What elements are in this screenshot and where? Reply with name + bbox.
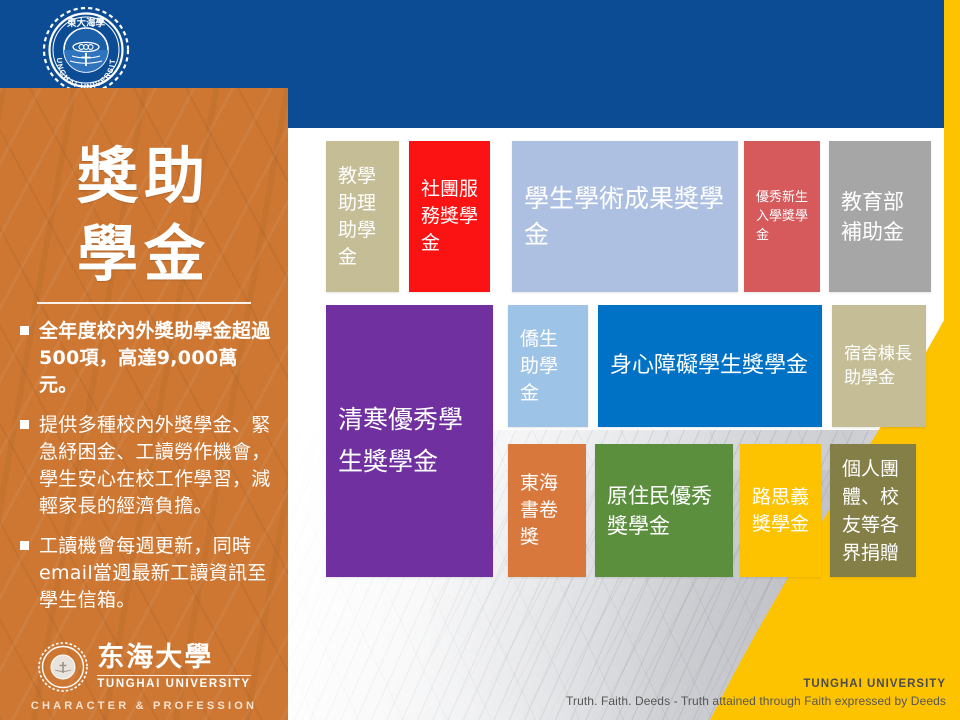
panel-brand-footer: 东海大學 TUNGHAI UNIVERSITY CHARACTER & PROF… [0,641,288,712]
svg-text:東大海學: 東大海學 [66,17,106,29]
scholarship-box-student-academic-achievement-scholarship[interactable]: 學生學術成果獎學金 [512,141,738,292]
list-item-label: 工讀機會每週更新，同時email當週最新工讀資訊至學生信箱。 [39,533,276,614]
scholarship-box-label: 優秀新生入學獎學金 [744,188,820,245]
scholarship-box-outstanding-freshman-admission-scholarship[interactable]: 優秀新生入學獎學金 [744,141,820,292]
brand-name-en: TUNGHAI UNIVERSITY [97,675,250,690]
bullet-square-icon [20,541,29,550]
list-item: 工讀機會每週更新，同時email當週最新工讀資訊至學生信箱。 [16,533,276,614]
list-item-label: 全年度校內外獎助學金超過500項，高達9,000萬元。 [39,318,276,399]
title-divider [37,302,251,304]
scholarship-box-club-service-scholarship[interactable]: 社團服務獎學金 [409,141,490,292]
bullet-list: 全年度校內外獎助學金超過500項，高達9,000萬元。 提供多種校內外獎學金、緊… [16,318,276,614]
scholarship-box-label: 社團服務獎學金 [409,176,490,257]
footer-subtitle: Truth. Faith. Deeds - Truth attained thr… [566,694,946,708]
scholarship-box-label: 學生學術成果獎學金 [512,181,738,253]
scholarship-box-label: 教育部補助金 [829,187,931,247]
page-title-line-1: 獎助 [0,138,288,216]
scholarship-box-label: 宿舍棟長助學金 [832,342,926,390]
scholarship-box-label: 東海書卷獎 [508,470,586,551]
tunghai-seal-icon [37,641,89,693]
scholarship-box-ministry-of-education-subsidy[interactable]: 教育部補助金 [829,141,931,292]
scholarship-box-luce-memorial-scholarship[interactable]: 路思義獎學金 [740,444,821,577]
scholarship-box-individual-group-alumni-donation[interactable]: 個人團體、校友等各界捐贈 [830,444,916,577]
tunghai-university-crest-icon: 東大海學 TUNGHAI UNIVERSITY [32,6,140,94]
footer-title: TUNGHAI UNIVERSITY [566,678,946,690]
scholarship-box-label: 原住民優秀獎學金 [595,481,733,541]
bullet-square-icon [20,420,29,429]
list-item: 提供多種校內外獎學金、緊急紓困金、工讀勞作機會，學生安心在校工作學習，減輕家長的… [16,412,276,520]
brand-tagline: CHARACTER & PROFESSION [0,700,288,712]
bullet-square-icon [20,326,29,335]
brand-name-cn: 东海大學 [97,642,213,673]
scholarship-box-label: 身心障礙學生獎學金 [598,350,822,382]
gold-accent-band [944,0,960,335]
scholarship-box-label: 路思義獎學金 [740,484,821,538]
scholarship-box-label: 清寒優秀學生獎學金 [326,399,493,483]
scholarship-box-disabled-student-scholarship[interactable]: 身心障礙學生獎學金 [598,305,822,427]
list-item-label: 提供多種校內外獎學金、緊急紓困金、工讀勞作機會，學生安心在校工作學習，減輕家長的… [39,412,276,520]
scholarship-box-label: 僑生助學金 [508,326,588,407]
scholarship-box-dormitory-supervisor-grant[interactable]: 宿舍棟長助學金 [832,305,926,427]
scholarship-box-label: 個人團體、校友等各界捐贈 [830,455,916,567]
slide-canvas: 東大海學 TUNGHAI UNIVERSITY 獎助 學金 全年度校內外獎助學金… [0,0,960,720]
left-info-panel: 獎助 學金 全年度校內外獎助學金超過500項，高達9,000萬元。 提供多種校內… [0,88,288,720]
footer-brand-block: TUNGHAI UNIVERSITY Truth. Faith. Deeds -… [566,678,946,708]
page-title-line-2: 學金 [0,216,288,294]
scholarship-box-low-income-outstanding-student-scholarship[interactable]: 清寒優秀學生獎學金 [326,305,493,577]
list-item: 全年度校內外獎助學金超過500項，高達9,000萬元。 [16,318,276,399]
page-title: 獎助 學金 [0,88,288,294]
scholarship-box-label: 教學助理助學金 [326,163,399,271]
scholarship-box-overseas-chinese-student-grant[interactable]: 僑生助學金 [508,305,588,427]
scholarship-box-teaching-assistant-grant[interactable]: 教學助理助學金 [326,141,399,292]
scholarship-box-indigenous-excellence-scholarship[interactable]: 原住民優秀獎學金 [595,444,733,577]
scholarship-box-tunghai-book-award[interactable]: 東海書卷獎 [508,444,586,577]
